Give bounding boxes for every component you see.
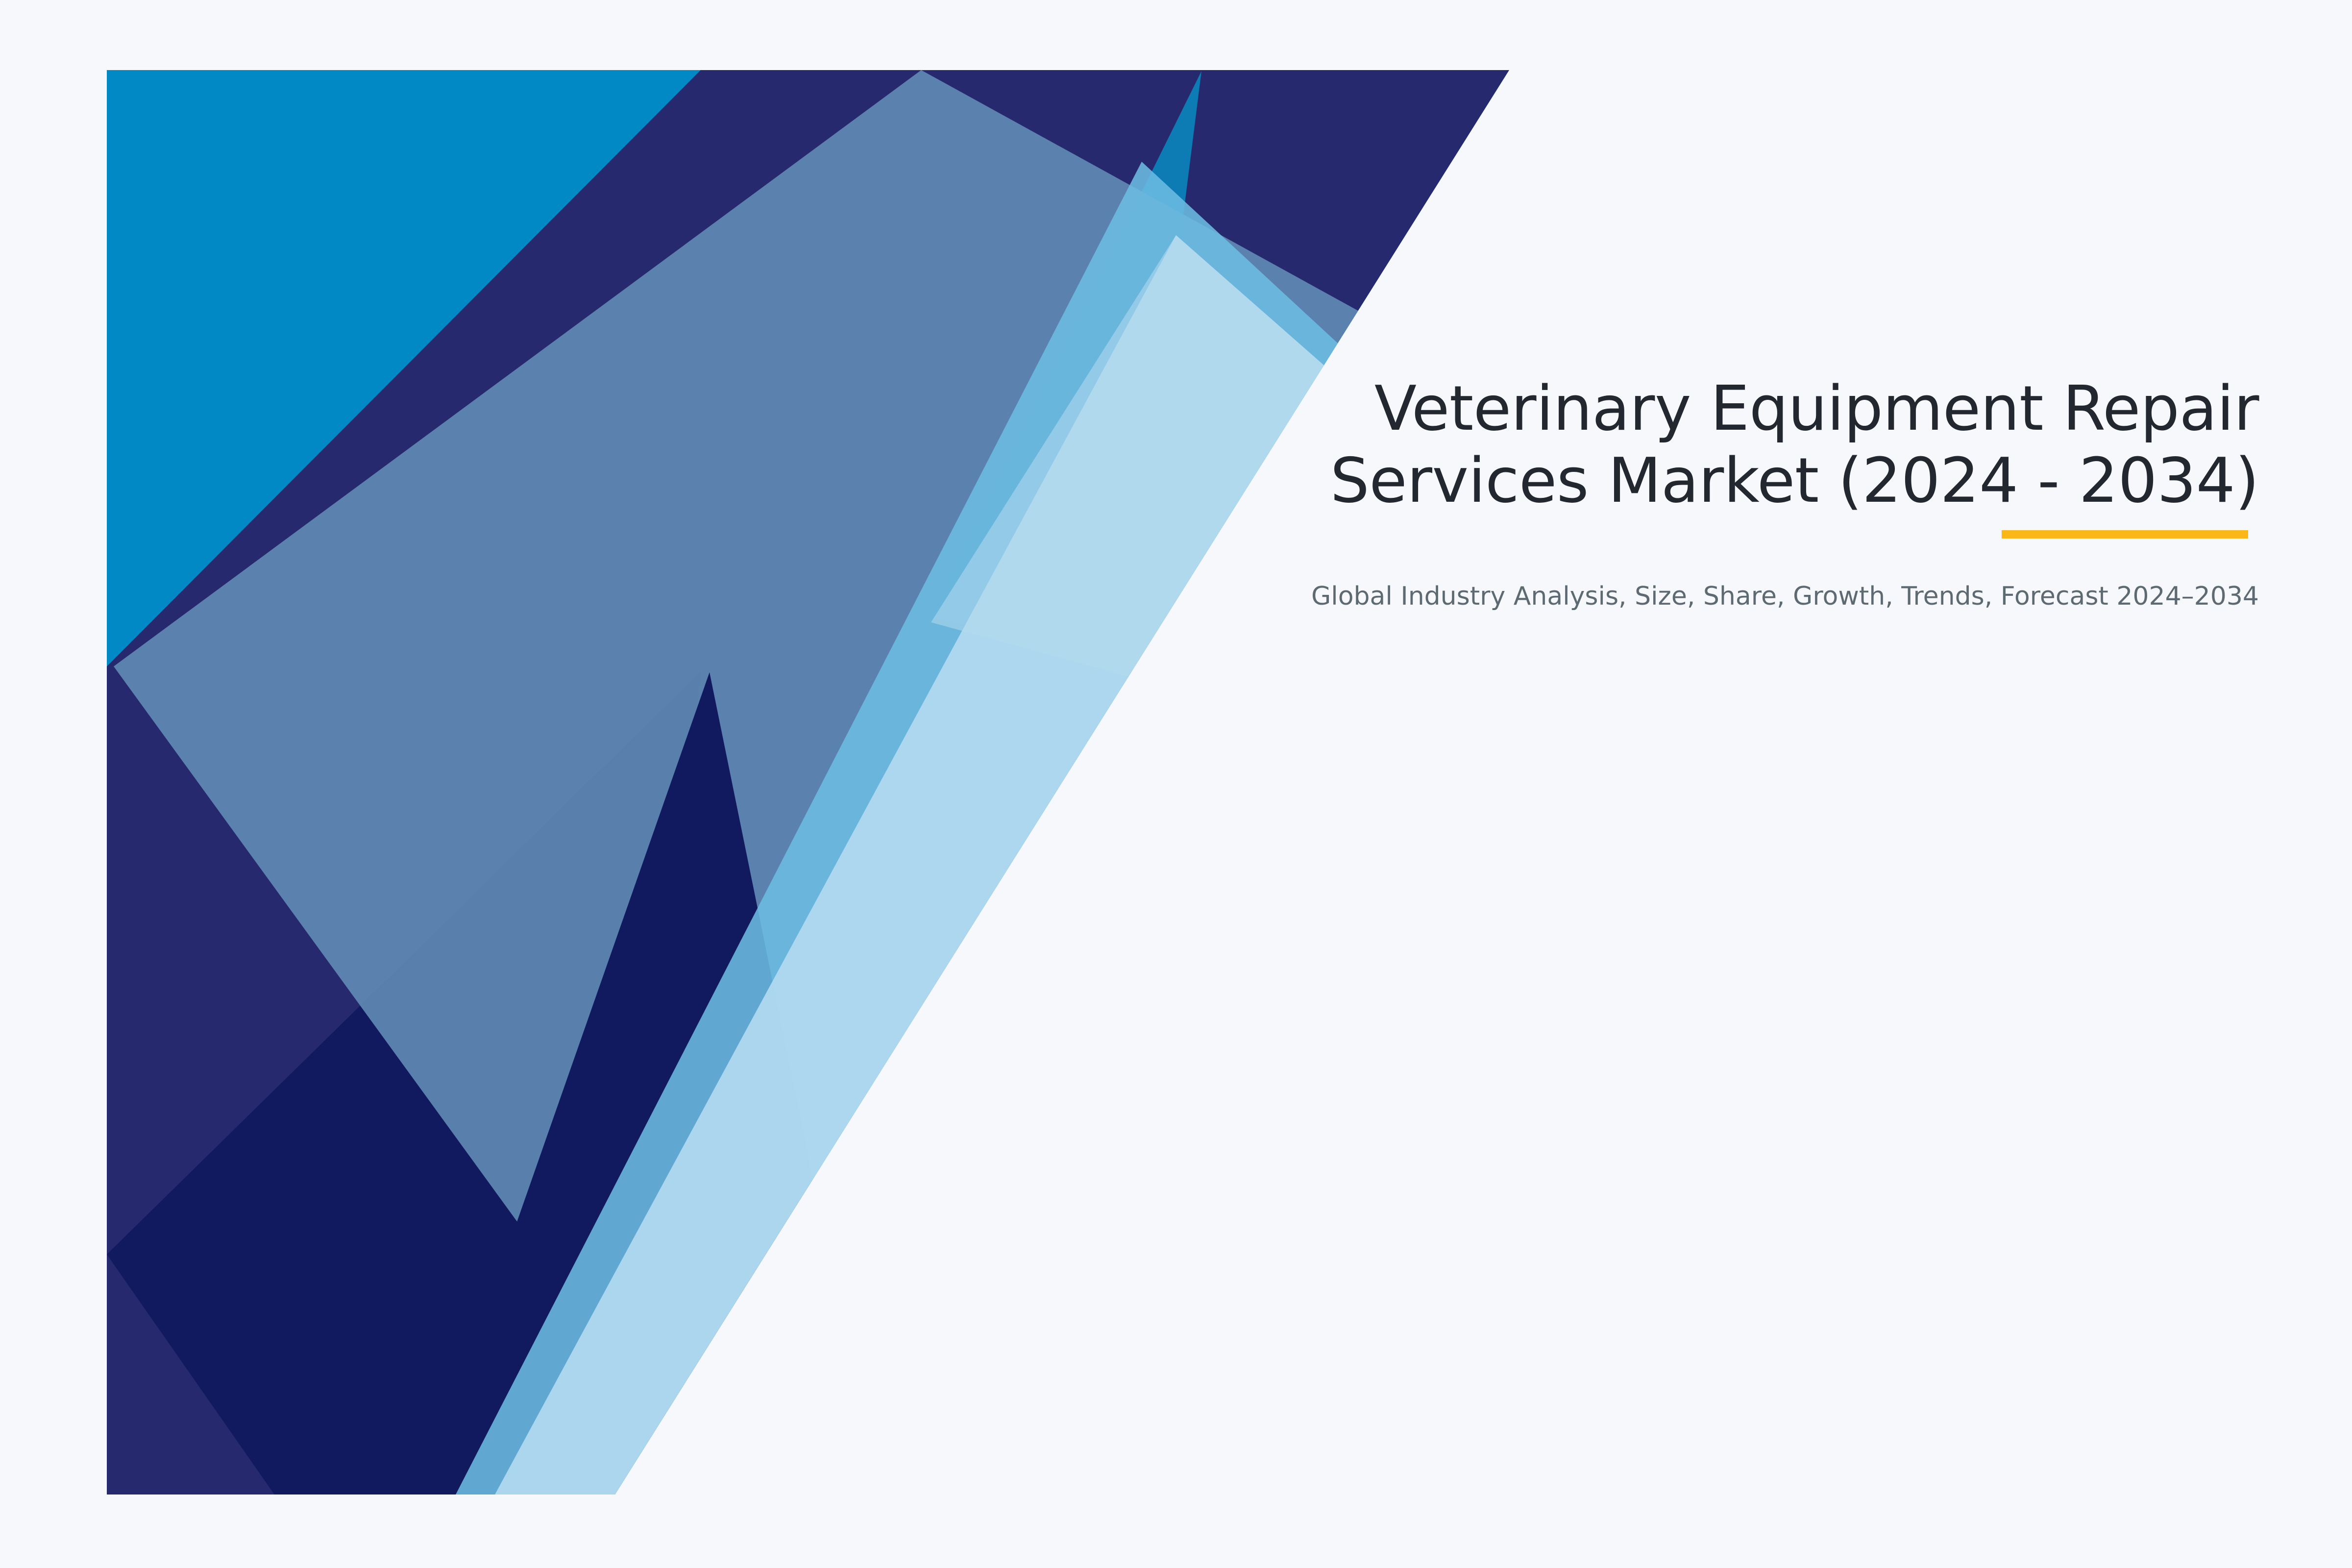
page-subtitle: Global Industry Analysis, Size, Share, G… — [1098, 580, 2259, 613]
title-wrapper: Veterinary Equipment Repair Services Mar… — [1098, 372, 2259, 517]
geometric-artwork-svg — [0, 0, 2352, 1568]
report-cover-page: Veterinary Equipment Repair Services Mar… — [0, 0, 2352, 1568]
page-title: Veterinary Equipment Repair Services Mar… — [1098, 372, 2259, 517]
title-accent-underline — [2002, 530, 2248, 539]
cover-artwork — [0, 0, 2352, 1568]
cover-text-block: Veterinary Equipment Repair Services Mar… — [1098, 372, 2259, 613]
